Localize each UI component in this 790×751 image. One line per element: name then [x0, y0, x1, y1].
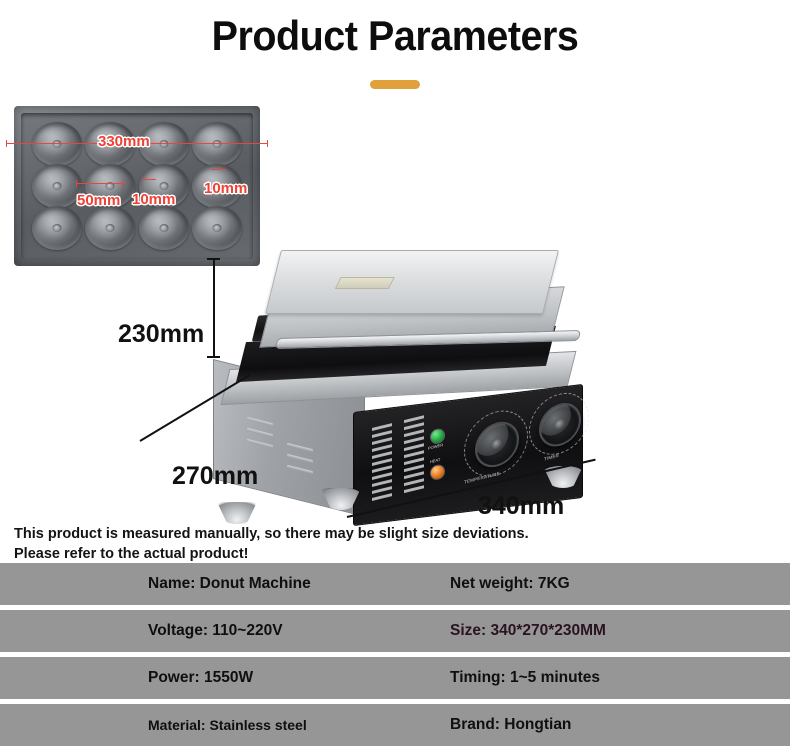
depth-dimension-label: 270mm: [172, 462, 258, 491]
machine-lid: [265, 250, 559, 314]
heat-indicator-light: [430, 464, 445, 481]
table-row: Material: Stainless steel Brand: Hongtia…: [0, 704, 790, 746]
page-title: Product Parameters: [24, 12, 767, 60]
spec-timing: Timing: 1~5 minutes: [450, 669, 600, 687]
tray-width-dimension-label: 330mm: [98, 133, 150, 150]
mold-cavity: [31, 208, 83, 249]
center-hole-dimension-label: 10mm: [132, 191, 175, 208]
height-dimension-line: [213, 258, 215, 358]
spec-material: Material: Stainless steel: [148, 717, 307, 733]
height-dimension-label: 230mm: [118, 320, 204, 349]
donut-mold-tray-image: 330mm 50mm 10mm 10mm: [14, 106, 260, 266]
spec-brand: Brand: Hongtian: [450, 716, 571, 734]
cavity-diameter-dimension-line: [76, 183, 123, 184]
donut-machine-image: POWER HEAT TEMPERATURE TIMER: [225, 250, 625, 510]
power-indicator-label: POWER: [428, 442, 443, 451]
measurement-disclaimer: This product is measured manually, so th…: [14, 524, 534, 564]
title-accent-bar: [370, 80, 420, 89]
mold-cavity: [84, 208, 136, 249]
mold-cavity: [191, 208, 243, 249]
spec-power: Power: 1550W: [148, 669, 253, 687]
mold-cavity: [138, 208, 190, 249]
table-row: Voltage: 110~220V Size: 340*270*230MM: [0, 610, 790, 652]
cavity-diameter-dimension-label: 50mm: [77, 192, 120, 209]
cavity-depth-dimension-label: 10mm: [204, 180, 247, 197]
specification-table: Name: Donut Machine Net weight: 7KG Volt…: [0, 563, 790, 751]
spec-voltage: Voltage: 110~220V: [148, 622, 283, 640]
table-row: Power: 1550W Timing: 1~5 minutes: [0, 657, 790, 699]
spec-net-weight: Net weight: 7KG: [450, 575, 570, 593]
width-dimension-label: 340mm: [478, 492, 564, 521]
heat-indicator-label: HEAT: [430, 457, 440, 465]
cavity-depth-dimension-line: [212, 169, 226, 170]
spec-name: Name: Donut Machine: [148, 575, 311, 593]
title-block: Product Parameters: [0, 0, 790, 100]
lid-label-plate: [335, 277, 395, 289]
machine-foot: [217, 502, 257, 524]
center-hole-dimension-line: [142, 179, 156, 180]
table-row: Name: Donut Machine Net weight: 7KG: [0, 563, 790, 605]
spec-size: Size: 340*270*230MM: [450, 622, 606, 640]
